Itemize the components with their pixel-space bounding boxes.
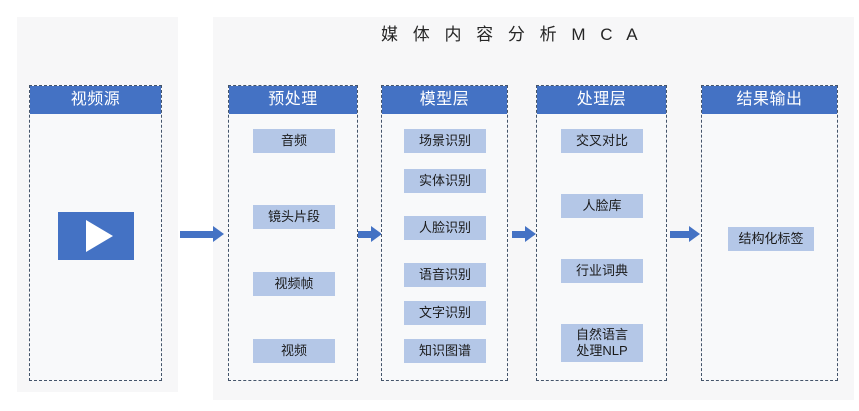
item-industry-dictionary[interactable]: 行业词典 [561,259,643,283]
column-header-model-layer: 模型层 [382,86,507,114]
item-nlp[interactable]: 自然语言 处理NLP [561,324,643,362]
play-icon[interactable] [58,212,134,260]
column-processing-layer[interactable]: 处理层 交叉对比 人脸库 行业词典 自然语言 处理NLP [536,85,667,381]
play-triangle-icon [86,220,113,252]
arrow-shaft [180,231,213,238]
diagram-canvas: 媒 体 内 容 分 析 M C A 视频源 预处理 音频 镜头片段 视频帧 视频… [0,0,859,411]
column-video-source[interactable]: 视频源 [29,85,162,381]
column-header-result-output: 结果输出 [702,86,837,114]
arrow-processing-to-result [670,229,700,239]
column-model-layer[interactable]: 模型层 场景识别 实体识别 人脸识别 语音识别 文字识别 知识图谱 [381,85,508,381]
arrow-model-to-processing [512,229,536,239]
arrow-preprocessing-to-model [358,229,382,239]
item-audio[interactable]: 音频 [253,129,335,153]
column-result-output[interactable]: 结果输出 结构化标签 [701,85,838,381]
column-header-video-source: 视频源 [30,86,161,114]
item-entity-recognition[interactable]: 实体识别 [404,169,486,193]
arrow-head-icon [213,226,224,242]
item-video[interactable]: 视频 [253,339,335,363]
page-title: 媒 体 内 容 分 析 M C A [381,20,643,45]
item-scene-recognition[interactable]: 场景识别 [404,129,486,153]
arrow-shaft [670,231,689,238]
item-structured-tags[interactable]: 结构化标签 [728,227,814,251]
arrow-shaft [512,231,525,238]
arrow-head-icon [525,226,536,242]
item-knowledge-graph[interactable]: 知识图谱 [404,339,486,363]
item-speech-recognition[interactable]: 语音识别 [404,263,486,287]
item-shot-segment[interactable]: 镜头片段 [253,205,335,229]
column-header-preprocessing: 预处理 [229,86,357,114]
arrow-head-icon [689,226,700,242]
column-header-processing-layer: 处理层 [537,86,666,114]
column-preprocessing[interactable]: 预处理 音频 镜头片段 视频帧 视频 [228,85,358,381]
arrow-video-to-preprocessing [180,229,224,239]
item-cross-comparison[interactable]: 交叉对比 [561,129,643,153]
item-text-recognition[interactable]: 文字识别 [404,301,486,325]
item-face-recognition[interactable]: 人脸识别 [404,216,486,240]
item-face-database[interactable]: 人脸库 [561,194,643,218]
arrow-shaft [358,231,371,238]
item-video-frame[interactable]: 视频帧 [253,272,335,296]
